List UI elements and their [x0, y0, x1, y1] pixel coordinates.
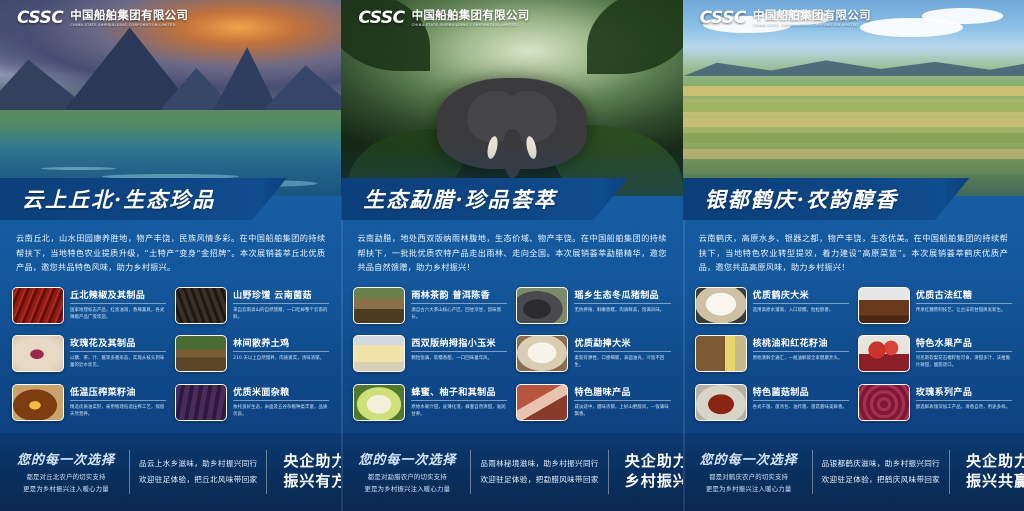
- title-banner-mengla: 生态勐腊·珍品荟萃: [341, 178, 682, 220]
- footer-midline-2: 欢迎驻足体验，把丘北风味带回家: [139, 472, 257, 488]
- product-description: 210 天以上自然慢养，肉质紧实，汤味浓郁。: [233, 355, 329, 362]
- panel-title: 生态勐腊·珍品荟萃: [363, 184, 556, 214]
- product-card[interactable]: 优质古法红糖 传承红糖熬制技艺，让古法的甘甜焕发新生。: [858, 287, 1012, 330]
- footer-midline-1: 品银都鹤庆滋味，助乡村振兴同行: [822, 456, 940, 472]
- product-thumbnail: [353, 384, 405, 421]
- product-thumbnail: [12, 384, 64, 421]
- panel-description: 云南鹤庆，高原水乡、银器之都，物产丰饶，生态优美。在中国船舶集团的持续帮扶下，当…: [683, 220, 1024, 283]
- product-card[interactable]: 优质米面杂粮 依托良好生态，米面及五谷杂粮种类丰富，品质优良。: [175, 384, 329, 427]
- cssc-wordmark-icon: CSSC: [17, 8, 63, 28]
- footer-divider: [266, 450, 267, 494]
- product-description: 依托良好生态，米面及五谷杂粮种类丰富，品质优良。: [233, 404, 329, 418]
- panel-description: 云南勐腊，地处西双版纳雨林腹地，生态价域、物产丰饶。在中国船舶集团的持续帮扶下，…: [341, 220, 682, 283]
- product-name: 优质米面杂粮: [233, 385, 329, 401]
- product-card[interactable]: 低温压榨菜籽油 精选优质油菜籽，采用物理低温压榨工艺，保留天然营养。: [12, 384, 166, 427]
- product-thumbnail: [353, 335, 405, 372]
- product-card[interactable]: 特色水果产品 尽尼斯软梨花石榴籽粒可食，清甜多汁，沃柑脆片微甜，酸甜适口。: [858, 335, 1012, 378]
- product-name: 丘北辣椒及其制品: [70, 288, 166, 304]
- product-thumbnail: [12, 335, 64, 372]
- product-card[interactable]: 特色菌菇制品 各式干菌、菌汤包、油炸菌、菌菇酱味美鲜香。: [695, 384, 849, 427]
- footer-subline-2: 更是为乡村振兴注入暖心力量: [353, 484, 461, 495]
- product-name: 蜂蜜、柚子和其制品: [411, 385, 507, 401]
- footer-subline-1: 都是对丘北农户的切实支持: [12, 472, 120, 483]
- footer-slogan-2: 振兴有方: [276, 472, 341, 492]
- logo-english-name: CHINA STATE SHIPBUILDING CORPORATION LIM…: [412, 23, 530, 27]
- footer-midline-1: 品雨林秘境滋味，助乡村振兴同行: [480, 456, 598, 472]
- product-card[interactable]: 瑶乡生态冬瓜猪制品 无抗养殖，鲜嫩香糯，肉质鲜美，饱满风味。: [516, 287, 670, 330]
- footer-midline-1: 品云上水乡滋味，助乡村振兴同行: [139, 456, 257, 472]
- footer-divider: [129, 450, 130, 494]
- product-card[interactable]: 林间散养土鸡 210 天以上自然慢养，肉质紧实，汤味浓郁。: [175, 335, 329, 378]
- product-name: 核桃油和红花籽油: [753, 336, 849, 352]
- footer-divider: [812, 450, 813, 494]
- product-name: 优质勐捧大米: [574, 336, 670, 352]
- product-description: 国家地理标志产品，红亮油润，香辣兼具，各式辣椒产品广受欢迎。: [70, 307, 166, 321]
- product-name: 低温压榨菜籽油: [70, 385, 166, 401]
- footer-subline-2: 更是为乡村振兴注入暖心力量: [12, 484, 120, 495]
- product-description: 传承红糖熬制技艺，让古法的甘甜焕发新生。: [916, 307, 1012, 314]
- product-name: 玫瑰系列产品: [916, 385, 1012, 401]
- footer-subline-1: 都是对勐腊农户的切实支持: [353, 472, 461, 483]
- product-card[interactable]: 西双版纳拇指小玉米 颗粒饱满，软糯香甜，一口回味童年风。: [353, 335, 507, 378]
- product-name: 林间散养土鸡: [233, 336, 329, 352]
- product-thumbnail: [516, 335, 568, 372]
- product-description: 醇选鲜玫瑰深加工产品，清香自然，用途多样。: [916, 404, 1012, 411]
- product-thumbnail: [858, 287, 910, 324]
- product-description: 选用高原水灌溉，入口软糯，粒粒醇香。: [753, 307, 849, 314]
- footer-mengla: 您的每一次选择 都是对勐腊农户的切实支持 更是为乡村振兴注入暖心力量 品雨林秘境…: [341, 433, 682, 511]
- product-name: 优质鹤庆大米: [753, 288, 849, 304]
- footer-script-line: 您的每一次选择: [695, 449, 803, 468]
- panel-title: 云上丘北·生态珍品: [22, 184, 215, 214]
- panel-qiubei: CSSC 中国船舶集团有限公司 CHINA STATE SHIPBUILDING…: [0, 0, 341, 511]
- panel-heqing: CSSC 中国船舶集团有限公司 CHINA STATE SHIPBUILDING…: [683, 0, 1024, 511]
- poster-board: CSSC 中国船舶集团有限公司 CHINA STATE SHIPBUILDING…: [0, 0, 1024, 511]
- hero-image-mengla: CSSC 中国船舶集团有限公司 CHINA STATE SHIPBUILDING…: [341, 0, 682, 196]
- title-banner-qiubei: 云上丘北·生态珍品: [0, 178, 341, 220]
- footer-slogan-1: 央企助力: [276, 452, 341, 472]
- product-thumbnail: [858, 335, 910, 372]
- product-card[interactable]: 玫瑰系列产品 醇选鲜玫瑰深加工产品，清香自然，用途多样。: [858, 384, 1012, 427]
- cssc-logo: CSSC 中国船舶集团有限公司 CHINA STATE SHIPBUILDING…: [17, 8, 188, 28]
- footer-divider: [470, 450, 471, 494]
- product-grid-mengla: 雨林茶韵 普洱陈香 源自古六大茶山核心产区，回甘浓甘，韵味悠长。 瑶乡生态冬瓜猪…: [341, 283, 682, 433]
- product-card[interactable]: 雨林茶韵 普洱陈香 源自古六大茶山核心产区，回甘浓甘，韵味悠长。: [353, 287, 507, 330]
- product-name: 优质古法红糖: [916, 288, 1012, 304]
- product-name: 山野珍馐 云南菌菇: [233, 288, 329, 304]
- footer-script-line: 您的每一次选择: [12, 449, 120, 468]
- cssc-logo: CSSC 中国船舶集团有限公司 CHINA STATE SHIPBUILDING…: [358, 8, 529, 28]
- logo-chinese-name: 中国船舶集团有限公司: [753, 9, 871, 21]
- cssc-wordmark-icon: CSSC: [358, 8, 404, 28]
- product-description: 以糖、茶、汁、酱等多重形态，实现从枝头到味蕾的近水炊见。: [70, 355, 166, 369]
- product-card[interactable]: 特色腊味产品 咸淡适中，腊味浓郁，上好山野醇风，一饭满味飘香。: [516, 384, 670, 427]
- product-card[interactable]: 山野珍馐 云南菌菇 来自云南高山的自然馈赠，一口吃掉整个云南的鲜。: [175, 287, 329, 330]
- footer-heqing: 您的每一次选择 都是对鹤庆农户的切实支持 更是为乡村振兴注入暖心力量 品银都鹤庆…: [683, 433, 1024, 511]
- product-card[interactable]: 蜂蜜、柚子和其制品 原始水果汁甜，皮薄化渣，蜂蜜自然清甜，滋润甘养。: [353, 384, 507, 427]
- footer-midline-2: 欢迎驻足体验，把勐腊风味带回家: [480, 472, 598, 488]
- footer-qiubei: 您的每一次选择 都是对丘北农户的切实支持 更是为乡村振兴注入暖心力量 品云上水乡…: [0, 433, 341, 511]
- product-name: 西双版纳拇指小玉米: [411, 336, 507, 352]
- product-name: 特色水果产品: [916, 336, 1012, 352]
- product-card[interactable]: 优质鹤庆大米 选用高原水灌溉，入口软糯，粒粒醇香。: [695, 287, 849, 330]
- product-description: 咸淡适中，腊味浓郁，上好山野醇风，一饭满味飘香。: [574, 404, 670, 418]
- product-description: 来自云南高山的自然馈赠，一口吃掉整个云南的鲜。: [233, 307, 329, 321]
- product-card[interactable]: 玫瑰花及其制品 以糖、茶、汁、酱等多重形态，实现从枝头到味蕾的近水炊见。: [12, 335, 166, 378]
- product-thumbnail: [175, 335, 227, 372]
- product-grid-qiubei: 丘北辣椒及其制品 国家地理标志产品，红亮油润，香辣兼具，各式辣椒产品广受欢迎。 …: [0, 283, 341, 433]
- footer-subline-2: 更是为乡村振兴注入暖心力量: [695, 484, 803, 495]
- title-banner-heqing: 银都鹤庆·农韵醇香: [683, 178, 1024, 220]
- footer-divider: [949, 450, 950, 494]
- product-description: 柔软有弹性，口感细腻，表面油光，冷饭不回生。: [574, 355, 670, 369]
- hero-image-qiubei: CSSC 中国船舶集团有限公司 CHINA STATE SHIPBUILDING…: [0, 0, 341, 196]
- product-description: 颗粒饱满，软糯香甜，一口回味童年风。: [411, 355, 507, 362]
- product-card[interactable]: 优质勐捧大米 柔软有弹性，口感细腻，表面油光，冷饭不回生。: [516, 335, 670, 378]
- product-name: 特色腊味产品: [574, 385, 670, 401]
- logo-english-name: CHINA STATE SHIPBUILDING CORPORATION LIM…: [753, 23, 871, 27]
- product-name: 玫瑰花及其制品: [70, 336, 166, 352]
- product-description: 尽尼斯软梨花石榴籽粒可食，清甜多汁，沃柑脆片微甜，酸甜适口。: [916, 355, 1012, 369]
- product-description: 原始清鲜全通汇，一瓶油解锁全家健康烹头。: [753, 355, 849, 362]
- cssc-logo: CSSC 中国船舶集团有限公司 CHINA STATE SHIPBUILDING…: [700, 8, 871, 28]
- product-name: 雨林茶韵 普洱陈香: [411, 288, 507, 304]
- product-thumbnail: [858, 384, 910, 421]
- hero-image-heqing: CSSC 中国船舶集团有限公司 CHINA STATE SHIPBUILDING…: [683, 0, 1024, 196]
- product-name: 特色菌菇制品: [753, 385, 849, 401]
- product-thumbnail: [12, 287, 64, 324]
- product-description: 无抗养殖，鲜嫩香糯，肉质鲜美，饱满风味。: [574, 307, 670, 314]
- product-thumbnail: [516, 287, 568, 324]
- footer-slogan-1: 央企助力: [618, 452, 683, 472]
- footer-slogan-1: 央企助力: [959, 452, 1024, 472]
- panel-mengla: CSSC 中国船舶集团有限公司 CHINA STATE SHIPBUILDING…: [341, 0, 682, 511]
- product-description: 源自古六大茶山核心产区，回甘浓甘，韵味悠长。: [411, 307, 507, 321]
- footer-slogan-2: 振兴共赢: [959, 472, 1024, 492]
- product-card[interactable]: 丘北辣椒及其制品 国家地理标志产品，红亮油润，香辣兼具，各式辣椒产品广受欢迎。: [12, 287, 166, 330]
- logo-chinese-name: 中国船舶集团有限公司: [412, 9, 530, 21]
- footer-script-line: 您的每一次选择: [353, 449, 461, 468]
- product-thumbnail: [695, 384, 747, 421]
- logo-english-name: CHINA STATE SHIPBUILDING CORPORATION LIM…: [70, 23, 188, 27]
- product-description: 各式干菌、菌汤包、油炸菌、菌菇酱味美鲜香。: [753, 404, 849, 411]
- cssc-wordmark-icon: CSSC: [700, 8, 746, 28]
- product-thumbnail: [695, 287, 747, 324]
- panel-title: 银都鹤庆·农韵醇香: [705, 184, 898, 214]
- product-thumbnail: [516, 384, 568, 421]
- product-description: 精选优质油菜籽，采用物理低温压榨工艺，保留天然营养。: [70, 404, 166, 418]
- product-grid-heqing: 优质鹤庆大米 选用高原水灌溉，入口软糯，粒粒醇香。 优质古法红糖 传承红糖熬制技…: [683, 283, 1024, 433]
- panel-description: 云南丘北，山水田园康养胜地，物产丰饶，民族风情多彩。在中国船舶集团的持续帮扶下，…: [0, 220, 341, 283]
- product-description: 原始水果汁甜，皮薄化渣，蜂蜜自然清甜，滋润甘养。: [411, 404, 507, 418]
- product-thumbnail: [175, 287, 227, 324]
- footer-midline-2: 欢迎驻足体验，把鹤庆风味带回家: [822, 472, 940, 488]
- footer-slogan-2: 乡村振兴: [618, 472, 683, 492]
- footer-subline-1: 都是对鹤庆农户的切实支持: [695, 472, 803, 483]
- logo-chinese-name: 中国船舶集团有限公司: [70, 9, 188, 21]
- product-name: 瑶乡生态冬瓜猪制品: [574, 288, 670, 304]
- product-thumbnail: [175, 384, 227, 421]
- product-thumbnail: [695, 335, 747, 372]
- footer-divider: [608, 450, 609, 494]
- product-card[interactable]: 核桃油和红花籽油 原始清鲜全通汇，一瓶油解锁全家健康烹头。: [695, 335, 849, 378]
- product-thumbnail: [353, 287, 405, 324]
